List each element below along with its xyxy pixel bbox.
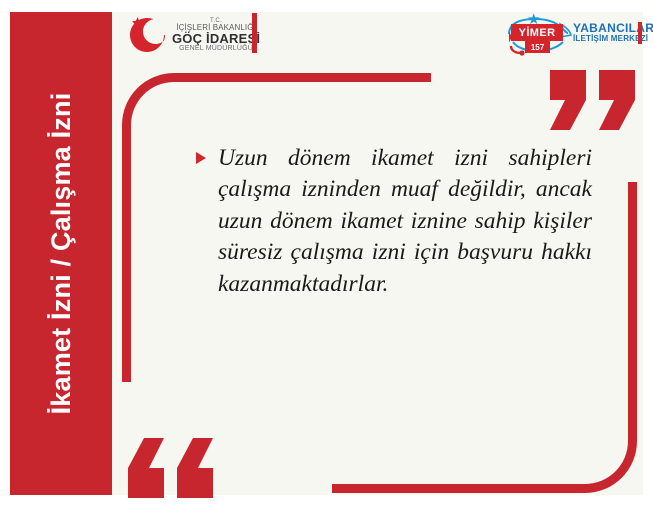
- quote-paragraph: Uzun dönem ikamet izni sahipleri çalışma…: [218, 143, 592, 332]
- crescent-star-icon: [128, 14, 168, 56]
- logo-divider: [252, 13, 257, 53]
- quote-text-block: Uzun dönem ikamet izni sahipleri çalışma…: [196, 143, 592, 332]
- yimer-divider: [638, 22, 642, 44]
- sidebar: İkamet İzni / Çalışma İzni: [10, 12, 112, 495]
- triangle-bullet-icon: [196, 152, 206, 164]
- ministry-logo: T.C. İÇİŞLERİ BAKANLIĞI GÖÇ İDARESİ GENE…: [128, 11, 266, 59]
- yimer-logo: ★ YİMER 157 YABANCILAR İLETİŞİM MERKEZİ: [505, 10, 645, 56]
- slide-canvas: İkamet İzni / Çalışma İzni T.C. İÇİŞLERİ…: [0, 0, 653, 506]
- quote-close-icon: [548, 70, 641, 130]
- ministry-line-general: GENEL MÜDÜRLÜĞÜ: [179, 45, 253, 52]
- ministry-line-agency: GÖÇ İDARESİ: [172, 32, 260, 45]
- sidebar-title: İkamet İzni / Çalışma İzni: [10, 12, 112, 495]
- quote-open-icon: [126, 438, 219, 498]
- yimer-badge: YİMER: [511, 24, 563, 41]
- yimer-number: 157: [525, 41, 550, 53]
- ministry-logo-text: T.C. İÇİŞLERİ BAKANLIĞI GÖÇ İDARESİ GENE…: [172, 18, 260, 53]
